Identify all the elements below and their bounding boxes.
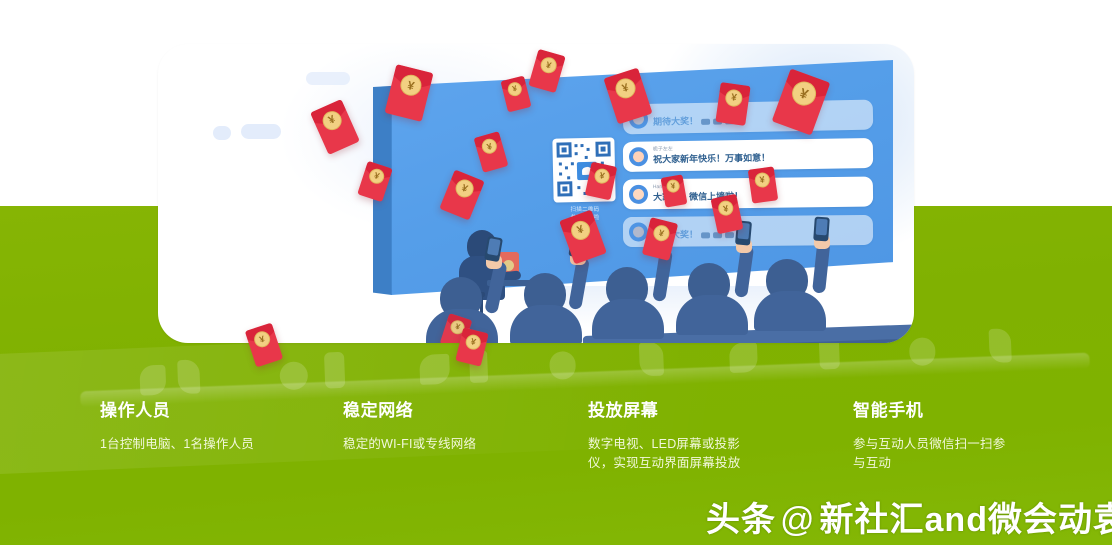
decor-pill [213, 126, 231, 140]
body [754, 291, 826, 331]
decor-pill [241, 124, 281, 139]
emoji-icon [701, 118, 710, 124]
feature-description: 数字电视、LED屏幕或投影仪，实现互动界面屏幕投放 [588, 435, 760, 473]
hero-illustration-card: 扫描二维码 参与互动啦 期待大奖！ 栀子左左 祝大家新年快乐！万事如意！ H [158, 44, 914, 343]
feature-description: 参与互动人员微信扫一扫参与互动 [853, 435, 1018, 473]
avatar [629, 147, 648, 166]
watermark-at: @ [780, 501, 816, 539]
watermark: 头条@新社汇and微会动袁帅 [706, 492, 1112, 541]
watermark-brand: 头条 [706, 501, 776, 539]
feature-title: 稳定网络 [343, 396, 553, 421]
avatar [629, 185, 648, 204]
page-root: 扫描二维码 参与互动啦 期待大奖！ 栀子左左 祝大家新年快乐！万事如意！ H [0, 0, 1112, 545]
decor-pill [306, 72, 350, 85]
feature-title: 投放屏幕 [588, 396, 760, 421]
phone [813, 217, 830, 242]
hongbao-icon: ¥ [715, 82, 750, 126]
feature-description: 稳定的WI-FI或专线网络 [343, 435, 553, 454]
feature-item-screen: 投放屏幕 数字电视、LED屏幕或投影仪，实现互动界面屏幕投放 [588, 396, 760, 473]
audience-person [424, 233, 519, 343]
feature-item-smartphone: 智能手机 参与互动人员微信扫一扫参与互动 [853, 396, 1018, 473]
chat-message-row: 栀子左左 祝大家新年快乐！万事如意！ [623, 138, 873, 172]
watermark-handle: 新社汇and微会动袁帅 [820, 501, 1112, 539]
body [510, 305, 582, 343]
feature-title: 操作人员 [100, 396, 270, 421]
feature-row: 操作人员 1台控制电脑、1名操作人员 稳定网络 稳定的WI-FI或专线网络 投放… [0, 396, 1112, 506]
audience-person [756, 223, 851, 343]
body [592, 299, 664, 339]
body [676, 295, 748, 335]
feature-item-operator: 操作人员 1台控制电脑、1名操作人员 [100, 396, 270, 454]
chat-text: 祝大家新年快乐！万事如意！ [653, 150, 864, 165]
feature-title: 智能手机 [853, 396, 1018, 421]
feature-description: 1台控制电脑、1名操作人员 [100, 435, 270, 454]
hongbao-icon: ¥ [748, 166, 778, 203]
feature-item-network: 稳定网络 稳定的WI-FI或专线网络 [343, 396, 553, 454]
